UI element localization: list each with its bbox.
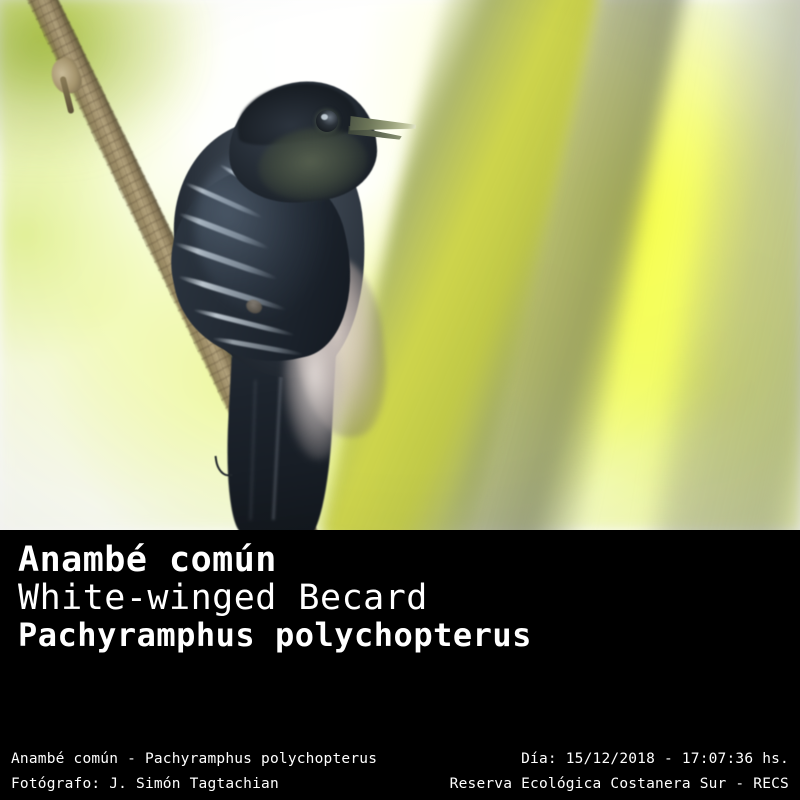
bird-subject bbox=[0, 0, 800, 530]
bird-foot-claw bbox=[215, 454, 233, 478]
common-name-es: Anambé común bbox=[18, 542, 618, 578]
footer-bar: Anambé común - Pachyramphus polychopteru… bbox=[0, 730, 800, 800]
species-name-block: Anambé común White-winged Becard Pachyra… bbox=[18, 542, 618, 652]
footer-right-column: Día: 15/12/2018 - 17:07:36 hs. Reserva E… bbox=[450, 747, 789, 797]
scientific-name: Pachyramphus polychopterus bbox=[18, 619, 618, 652]
footer-date-line: Día: 15/12/2018 - 17:07:36 hs. bbox=[450, 747, 789, 772]
common-name-en: White-winged Becard bbox=[18, 580, 618, 616]
footer-left-column: Anambé común - Pachyramphus polychopteru… bbox=[11, 747, 377, 797]
photo-caption-card: Anambé común White-winged Becard Pachyra… bbox=[0, 0, 800, 800]
bird-eye bbox=[316, 110, 338, 132]
bird-eye-glint bbox=[321, 114, 328, 120]
caption-bar: Anambé común White-winged Becard Pachyra… bbox=[0, 530, 800, 730]
footer-species-line: Anambé común - Pachyramphus polychopteru… bbox=[11, 747, 377, 772]
footer-photographer-line: Fotógrafo: J. Simón Tagtachian bbox=[11, 772, 377, 797]
footer-location-line: Reserva Ecológica Costanera Sur - RECS bbox=[450, 772, 789, 797]
bird-photograph bbox=[0, 0, 800, 530]
